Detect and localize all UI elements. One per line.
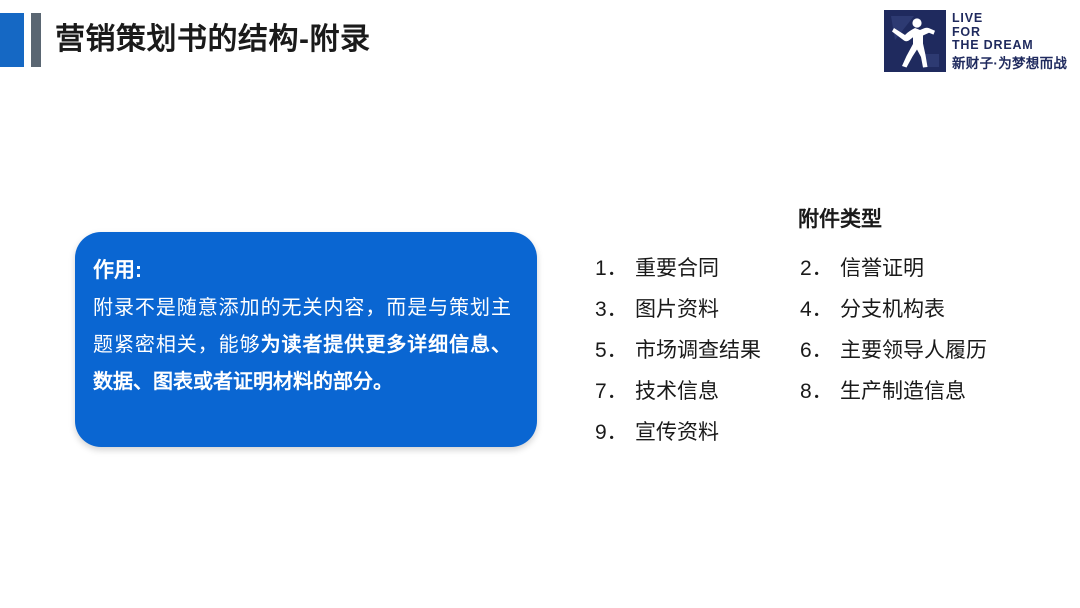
attachment-types-panel: 附件类型 1． 重要合同 2． 信誉证明 3． 图片资料 4． [595, 206, 1035, 451]
list-item-label: 技术信息 [635, 377, 719, 407]
callout-body: 附录不是随意添加的无关内容，而是与策划主题紧密相关，能够为读者提供更多详细信息、… [93, 290, 511, 401]
slide-canvas: 营销策划书的结构-附录 LIVE FOR THE DREAM 新财子·为梦想而战… [0, 0, 1080, 608]
purpose-callout-card: 作用: 附录不是随意添加的无关内容，而是与策划主题紧密相关，能够为读者提供更多详… [75, 232, 537, 447]
list-item-label: 生产制造信息 [840, 377, 966, 407]
list-item: 2． 信誉证明 [800, 254, 1035, 284]
list-item: 7． 技术信息 [595, 377, 800, 407]
list-item-label: 主要领导人履历 [840, 336, 987, 366]
list-item-number: 5． [595, 336, 635, 366]
attachment-types-grid: 1． 重要合同 2． 信誉证明 3． 图片资料 4． 分支机构表 [595, 248, 1035, 453]
page-title: 营销策划书的结构-附录 [55, 18, 371, 62]
logo-wordmark: LIVE FOR THE DREAM 新财子·为梦想而战 [952, 12, 1072, 72]
list-item: 4． 分支机构表 [800, 295, 1035, 325]
list-item: 1． 重要合同 [595, 254, 800, 284]
list-item-label: 宣传资料 [635, 418, 719, 448]
list-row: 9． 宣传资料 [595, 412, 1035, 453]
list-item-number: 7． [595, 377, 635, 407]
athlete-silhouette-icon [884, 10, 946, 72]
list-item-label: 信誉证明 [840, 254, 924, 284]
list-item-number: 2． [800, 254, 840, 284]
logo-line-1: LIVE [952, 12, 1072, 26]
list-item-number: 9． [595, 418, 635, 448]
list-item-number: 6． [800, 336, 840, 366]
brand-logo: LIVE FOR THE DREAM 新财子·为梦想而战 [884, 10, 1070, 76]
list-item-number: 4． [800, 295, 840, 325]
list-item: 3． 图片资料 [595, 295, 800, 325]
logo-line-2: FOR [952, 26, 1072, 40]
list-item: 9． 宣传资料 [595, 418, 800, 448]
list-item-label: 市场调查结果 [635, 336, 761, 366]
list-item-number: 3． [595, 295, 635, 325]
list-row: 5． 市场调查结果 6． 主要领导人履历 [595, 330, 1035, 371]
list-row: 3． 图片资料 4． 分支机构表 [595, 289, 1035, 330]
list-item: 6． 主要领导人履历 [800, 336, 1035, 366]
list-item: 5． 市场调查结果 [595, 336, 800, 366]
logo-chinese-tagline: 新财子·为梦想而战 [952, 55, 1072, 72]
list-item-number: 8． [800, 377, 840, 407]
list-item-label: 分支机构表 [840, 295, 945, 325]
header-accent-gray-bar [31, 13, 41, 67]
list-row: 1． 重要合同 2． 信誉证明 [595, 248, 1035, 289]
list-item-label: 图片资料 [635, 295, 719, 325]
list-row: 7． 技术信息 8． 生产制造信息 [595, 371, 1035, 412]
list-item: 8． 生产制造信息 [800, 377, 1035, 407]
logo-line-3: THE DREAM [952, 39, 1072, 53]
list-heading: 附件类型 [595, 206, 1080, 234]
list-item-number: 1． [595, 254, 635, 284]
callout-title: 作用: [93, 254, 511, 288]
list-item-label: 重要合同 [635, 254, 719, 284]
header-accent-blue-bar [0, 13, 24, 67]
